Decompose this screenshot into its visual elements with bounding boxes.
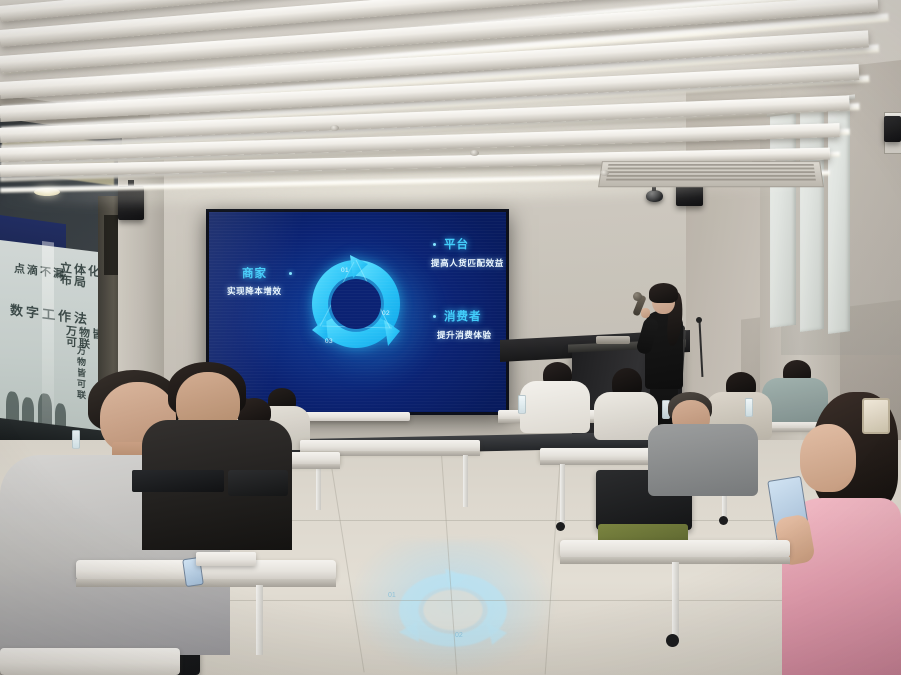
cycle-step-number-03: 03 xyxy=(325,338,333,345)
laptop[interactable] xyxy=(132,470,224,492)
cycle-ring-svg xyxy=(297,244,415,364)
cycle-step-number-01: 01 xyxy=(341,267,349,274)
slide-bullet-dot-platform xyxy=(433,243,436,246)
screen-reflection-diagram xyxy=(358,548,548,673)
desk xyxy=(0,648,180,675)
desk-leg xyxy=(560,464,565,524)
mural-text-vertical: 万物皆可联 xyxy=(76,345,85,401)
smoke-detector xyxy=(330,125,339,131)
led-screen-bezel: 01 02 03 商家 实现降本增效 平台 提高人货匹配效益 消费者 提升消费体… xyxy=(206,209,509,415)
microphone-head xyxy=(633,292,642,301)
desk-leg xyxy=(256,585,263,655)
slide-bullet-dot-consumer xyxy=(433,315,436,318)
attendee-head xyxy=(800,424,856,492)
mural-divider xyxy=(42,241,54,432)
slide-label-sub-platform: 提高人货匹配效益 xyxy=(431,257,504,269)
presenter-hand xyxy=(641,308,650,318)
wall-speaker-far-right xyxy=(884,116,901,142)
cycle-step-number-02: 02 xyxy=(382,310,390,317)
slide-label-sub-merchant: 实现降本增效 xyxy=(227,285,282,297)
attendee-body xyxy=(520,381,590,433)
vent-slat xyxy=(608,164,814,166)
desk-caster xyxy=(556,522,565,531)
desk-caster xyxy=(719,516,728,525)
presenter-hair xyxy=(649,283,678,303)
smoke-detector xyxy=(600,170,609,176)
slide-label-sub-consumer: 提升消费体验 xyxy=(437,329,492,341)
slide-label-heading-merchant: 商家 xyxy=(242,265,267,281)
desk-edge xyxy=(76,579,336,587)
mural-text-line: 点滴不漏 xyxy=(14,264,66,281)
desk-caster xyxy=(666,634,679,647)
cycle-diagram: 01 02 03 xyxy=(297,244,415,364)
podium-papers xyxy=(596,336,630,344)
ceiling-air-vent xyxy=(598,161,824,187)
vent-slat xyxy=(607,175,816,177)
vent-slat xyxy=(607,171,815,173)
desk xyxy=(560,540,790,558)
vent-slat xyxy=(608,168,815,170)
mic-stand-secondary-head xyxy=(696,317,702,323)
water-bottle xyxy=(72,430,80,449)
notebook xyxy=(196,552,256,566)
desk-leg xyxy=(672,562,679,637)
water-bottle xyxy=(518,395,526,414)
water-bottle xyxy=(745,398,753,417)
desk-leg xyxy=(463,455,468,507)
slide-label-heading-platform: 平台 xyxy=(444,236,469,252)
reflection-number-02: 02 xyxy=(455,632,463,639)
conference-room-photo: 点滴不漏立体化布局数字工作法万物皆可联万物皆可联 xyxy=(0,0,901,675)
presentation-slide: 01 02 03 商家 实现降本增效 平台 提高人货匹配效益 消费者 提升消费体… xyxy=(209,212,506,412)
smoke-detector xyxy=(470,150,479,156)
hair-clip xyxy=(862,398,890,434)
slide-bullet-dot-left xyxy=(289,272,292,275)
slide-label-heading-consumer: 消费者 xyxy=(444,308,482,324)
vent-slat xyxy=(606,179,816,181)
reflection-number-01: 01 xyxy=(388,592,396,599)
bag xyxy=(228,470,288,496)
attendee-body xyxy=(648,424,758,496)
